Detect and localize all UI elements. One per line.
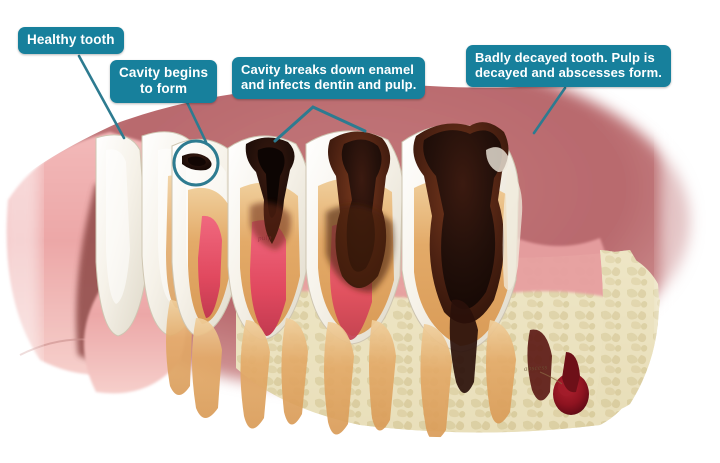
callout-cavity-breaks-enamel[interactable]: Cavity breaks down enamel and infects de…: [232, 57, 425, 99]
callout-badly-decayed-tooth[interactable]: Badly decayed tooth. Pulp is decayed and…: [466, 45, 671, 87]
illustration-canvas: Healthy tooth Cavity begins to form Cavi…: [0, 0, 720, 463]
bone-right-edge: [596, 250, 659, 411]
callout-healthy-tooth[interactable]: Healthy tooth: [18, 27, 124, 54]
callout-cavity-begins[interactable]: Cavity begins to form: [110, 60, 217, 103]
